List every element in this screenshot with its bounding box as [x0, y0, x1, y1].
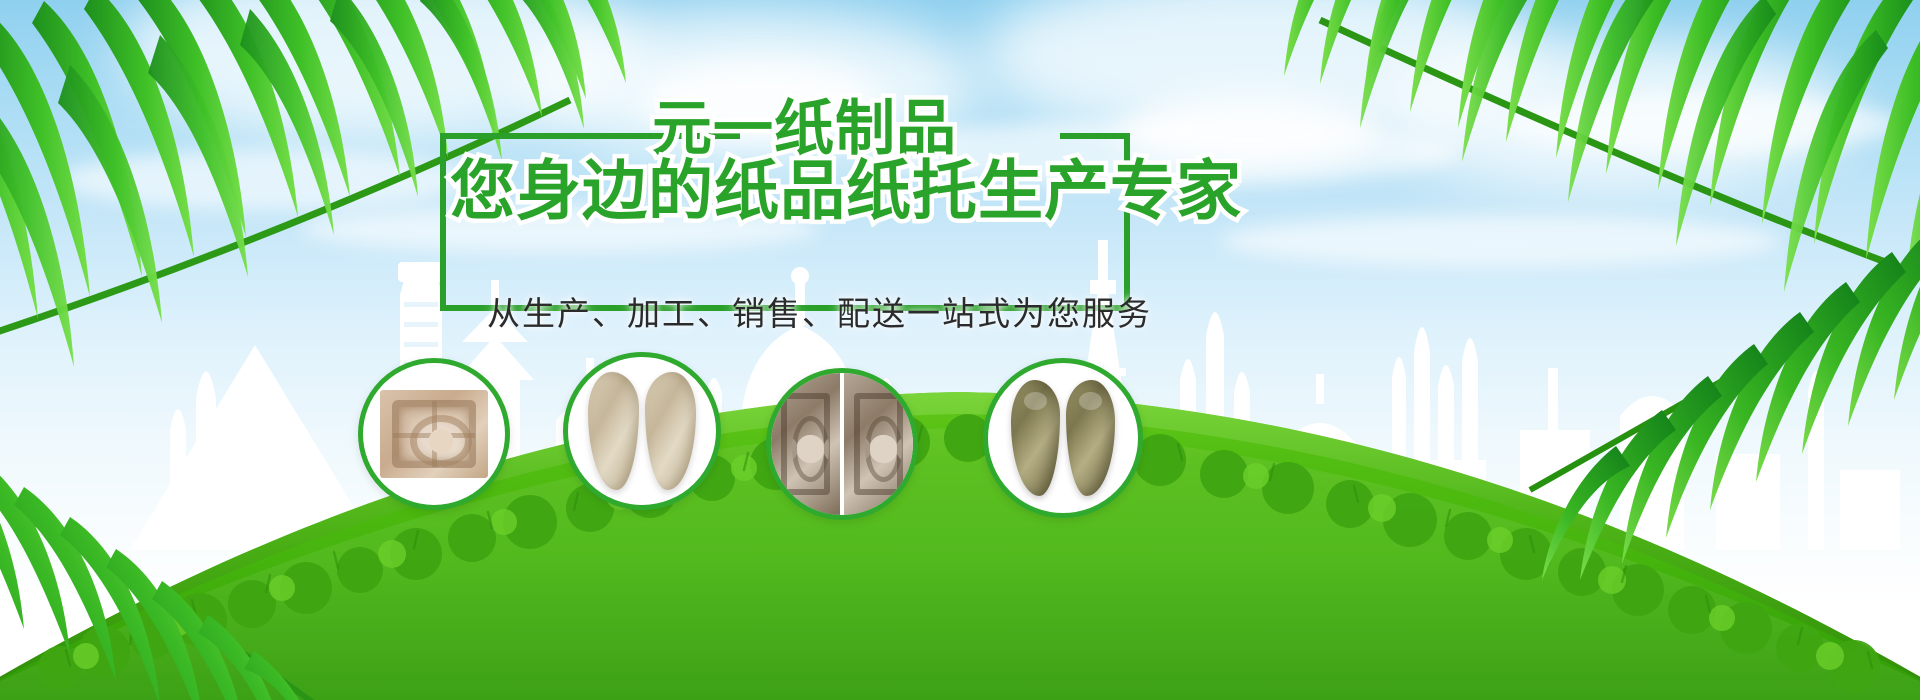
molded-pulp-tray-image — [380, 390, 488, 478]
two-piece-pulp-pack-image — [771, 373, 913, 515]
olive-shoe-tree-image — [1005, 378, 1122, 498]
shoe-tree-right — [1066, 380, 1115, 495]
palm-frond-icon — [1510, 160, 1920, 580]
insole-left — [588, 372, 639, 490]
insole-right — [645, 372, 696, 490]
product-circle-paper-pulp-insole-pair[interactable] — [563, 352, 721, 510]
pack-half-right — [844, 373, 913, 515]
product-circle-molded-pulp-tray[interactable] — [358, 358, 510, 510]
insole-pair-image — [584, 372, 699, 490]
shoe-tree-left — [1011, 380, 1060, 495]
product-circle-olive-pulp-shoe-tree[interactable] — [983, 358, 1143, 518]
tray-ribs — [393, 401, 475, 468]
product-circle-two-piece-pulp-pack[interactable] — [766, 368, 918, 520]
headline-line-2: 您身边的纸品纸托生产专家 — [450, 138, 1242, 232]
subtitle-text: 从生产、加工、销售、配送一站式为您服务 — [487, 287, 1152, 335]
promo-banner: 元一纸制品 您身边的纸品纸托生产专家 从生产、加工、销售、配送一站式为您服务 — [0, 0, 1920, 700]
palm-frond-icon — [0, 345, 390, 700]
pack-half-left — [771, 373, 840, 515]
headline-block: 元一纸制品 您身边的纸品纸托生产专家 — [440, 88, 1130, 288]
